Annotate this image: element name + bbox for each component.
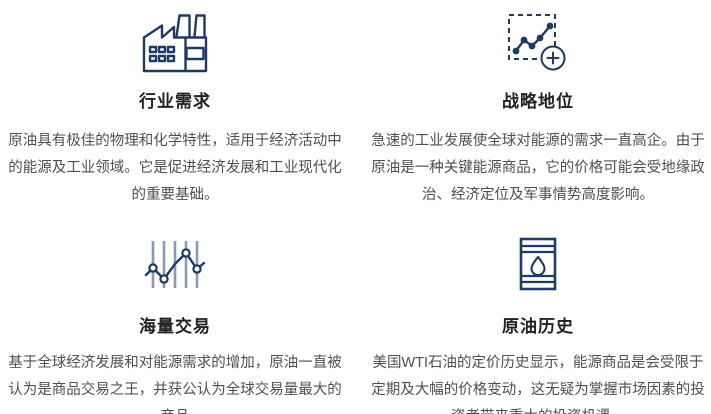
card-title: 原油历史 — [502, 317, 574, 337]
chart-add-icon — [502, 8, 574, 78]
feature-card-massive-trading: 海量交易 基于全球经济发展和对能源需求的增加，原油一直被认为是商品交易之王，并获… — [0, 207, 356, 414]
card-title: 战略地位 — [502, 92, 574, 112]
card-title: 行业需求 — [139, 92, 211, 112]
feature-card-industry-demand: 行业需求 原油具有极佳的物理和化学特性，适用于经济活动中的能源及工业领域。它是促… — [0, 0, 356, 207]
card-body: 急速的工业发展使全球对能源的需求一直高企。由于原油是一种关键能源商品，它的价格可… — [368, 128, 708, 207]
card-body: 原油具有极佳的物理和化学特性，适用于经济活动中的能源及工业领域。它是促进经济发展… — [2, 128, 348, 207]
card-title: 海量交易 — [139, 317, 211, 337]
feature-card-strategic-position: 战略地位 急速的工业发展使全球对能源的需求一直高企。由于原油是一种关键能源商品，… — [356, 0, 711, 207]
card-body: 基于全球经济发展和对能源需求的增加，原油一直被认为是商品交易之王，并获公认为全球… — [2, 350, 348, 414]
oil-barrel-icon — [502, 229, 574, 299]
factory-icon — [139, 8, 211, 78]
card-body: 美国WTI石油的定价历史显示，能源商品是会受限于定期及大幅的价格变动，这无疑为掌… — [368, 350, 708, 414]
feature-grid: 行业需求 原油具有极佳的物理和化学特性，适用于经济活动中的能源及工业领域。它是促… — [0, 0, 711, 414]
line-chart-bars-icon — [139, 229, 211, 299]
feature-card-crude-oil-history: 原油历史 美国WTI石油的定价历史显示，能源商品是会受限于定期及大幅的价格变动，… — [356, 207, 711, 414]
